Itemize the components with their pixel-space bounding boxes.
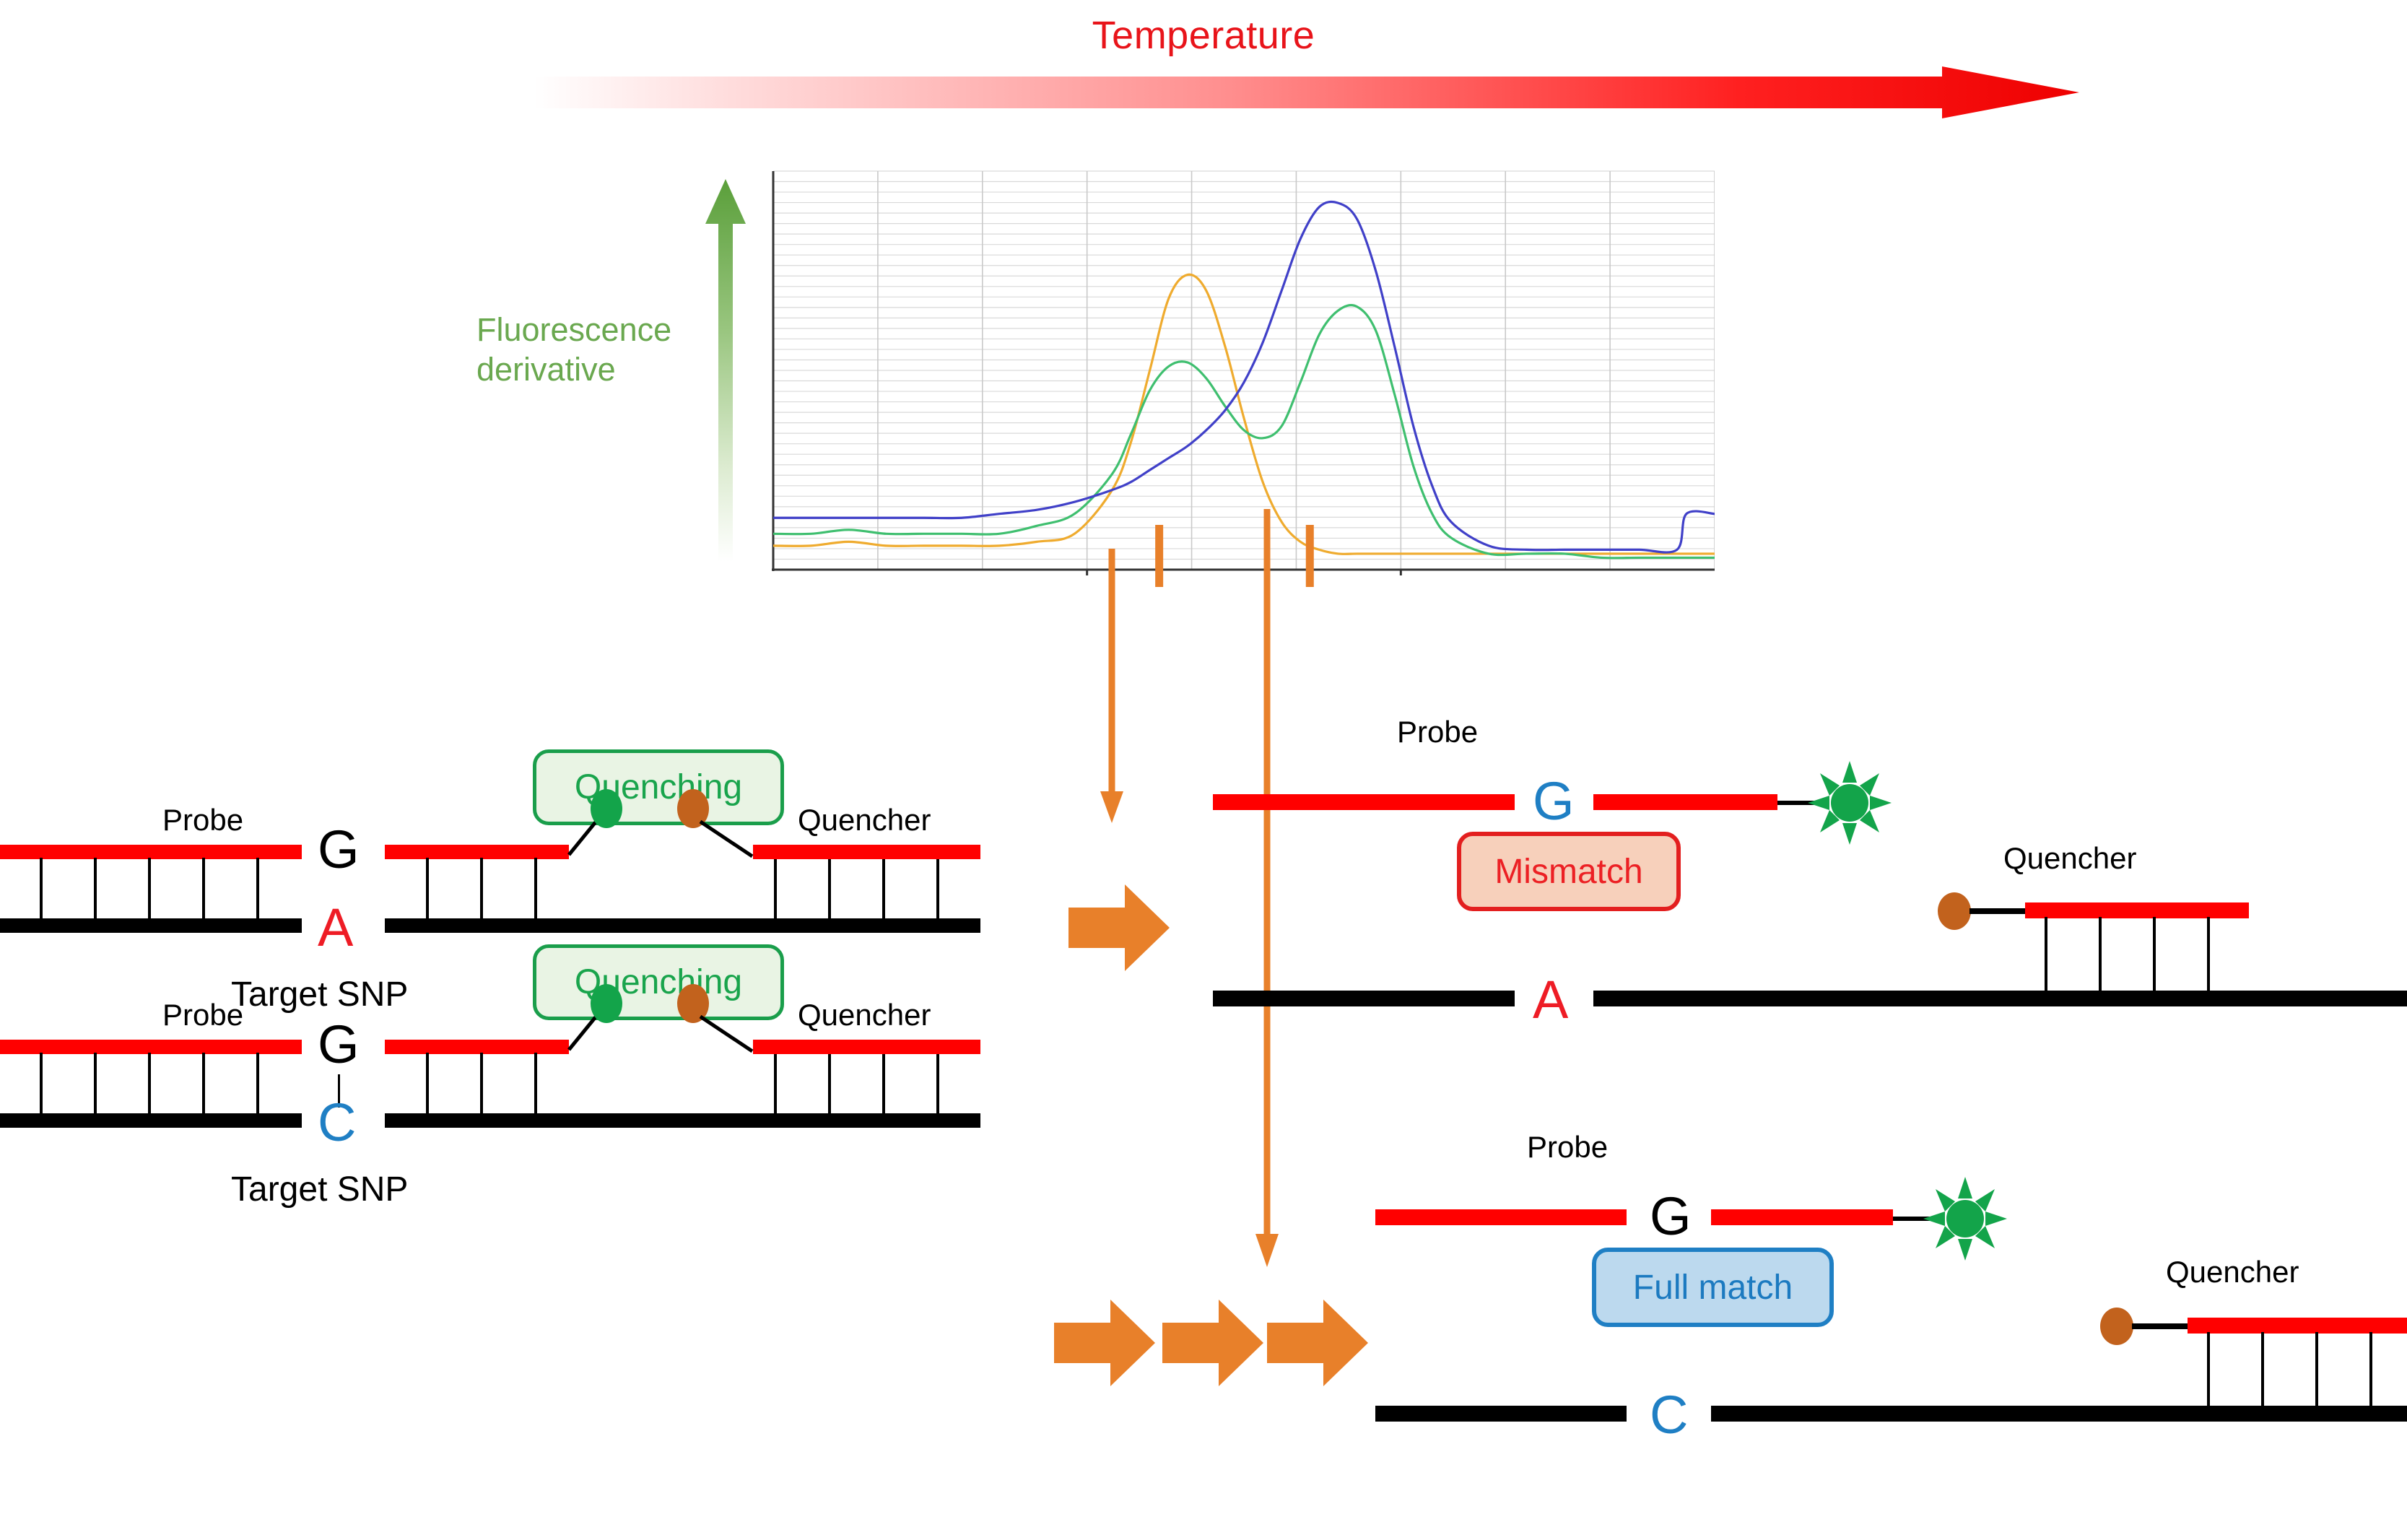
target-strand-segment-left — [1375, 1406, 1627, 1422]
quencher-dot — [1935, 888, 2029, 931]
probe-strand-quencher-segment — [2025, 902, 2249, 918]
probe-strand-segment-left — [1375, 1209, 1627, 1225]
process-arrow — [1054, 1300, 1155, 1390]
target-snp-label: Target SNP — [231, 1170, 408, 1209]
mismatch-badge: Mismatch — [1457, 832, 1681, 911]
fullmatch-badge: Full match — [1592, 1248, 1834, 1327]
base-pair-bond — [2369, 1332, 2372, 1407]
base-pair-bond — [2315, 1332, 2318, 1407]
fluorophore-starburst — [1893, 1174, 2023, 1263]
chart-series-orange-curve — [773, 274, 1715, 554]
quencher-dot — [670, 787, 764, 866]
base-pair-bond — [480, 1053, 483, 1115]
probe-strand-quencher-segment — [2188, 1318, 2407, 1334]
base-pair-bond — [202, 1053, 205, 1115]
probe-strand-segment-left — [0, 1040, 302, 1054]
target-base-letter: C — [318, 1096, 356, 1149]
target-strand-segment-right — [1593, 991, 2407, 1006]
quencher-label: Quencher — [2003, 841, 2136, 876]
base-pair-bond — [828, 1053, 831, 1115]
probe-strand-segment-left — [0, 845, 302, 859]
base-pair-bond — [256, 858, 259, 920]
probe-strand-segment-right — [1711, 1209, 1893, 1225]
target-strand-segment-left — [1213, 991, 1515, 1006]
probe-base-letter: G — [1533, 775, 1575, 828]
y-axis-label-line1: Fluorescence — [476, 310, 715, 350]
target-strand-segment-right — [1711, 1406, 2407, 1422]
chart-series-green-curve — [773, 305, 1715, 558]
temperature-gradient-arrow — [534, 66, 2079, 118]
base-pair-bond — [936, 858, 939, 920]
quencher-label: Quencher — [798, 803, 931, 838]
y-axis-label: Fluorescence derivative — [476, 310, 715, 390]
probe-label: Probe — [1397, 715, 1478, 749]
probe-strand-segment-mid — [385, 845, 569, 859]
probe-strand-segment-mid — [385, 1040, 569, 1054]
base-pair-bond — [2099, 917, 2102, 992]
fluorophore-starburst — [1777, 758, 1907, 848]
base-pair-bond — [426, 1053, 429, 1115]
melt-curve-plot — [762, 168, 1715, 587]
fluorescence-up-arrow — [704, 179, 747, 565]
probe-base-letter: G — [318, 823, 360, 876]
base-pair-bond — [2153, 917, 2156, 992]
base-pair-bond — [936, 1053, 939, 1115]
base-pair-bond — [256, 1053, 259, 1115]
base-pair-bond — [774, 858, 777, 920]
process-arrow — [1162, 1300, 1263, 1390]
base-pair-bond — [534, 1053, 537, 1115]
base-pair-bond — [828, 858, 831, 920]
y-axis-label-line2: derivative — [476, 350, 715, 390]
target-strand-segment-right — [385, 1113, 980, 1128]
mismatch-right-panel: Probe Quencher G Mismatch A — [1213, 722, 2407, 1011]
base-pair-bond — [148, 1053, 151, 1115]
fluorophore-dot — [556, 787, 643, 866]
base-pair-bond — [882, 858, 885, 920]
base-pair-bond — [40, 858, 43, 920]
probe-label: Probe — [162, 998, 243, 1032]
base-pair-bond — [882, 1053, 885, 1115]
process-arrow — [1068, 884, 1170, 975]
probe-base-letter: G — [318, 1018, 360, 1071]
melt-curve-chart — [762, 168, 1715, 587]
probe-base-letter: G — [1650, 1190, 1692, 1243]
base-pair-bond — [2045, 917, 2047, 992]
probe-strand-segment-right — [753, 1040, 980, 1054]
base-pair-bond — [94, 858, 97, 920]
chart-series-blue-curve — [773, 202, 1715, 553]
base-pair-bond — [2207, 917, 2210, 992]
quencher-dot — [2097, 1303, 2191, 1347]
probe-strand-segment-left — [1213, 794, 1515, 810]
target-base-letter: C — [1650, 1388, 1688, 1442]
mismatch-peak-connector — [1097, 549, 1126, 827]
base-pair-bond — [94, 1053, 97, 1115]
base-pair-bond — [202, 858, 205, 920]
target-base-letter: A — [1533, 973, 1568, 1027]
base-pair-bond — [774, 1053, 777, 1115]
quencher-label: Quencher — [2166, 1255, 2299, 1289]
base-pair-bond — [534, 858, 537, 920]
base-pair-bond — [426, 858, 429, 920]
target-base-letter: A — [318, 901, 353, 954]
probe-strand-segment-right — [753, 845, 980, 859]
page-title-temperature: Temperature — [0, 13, 2407, 58]
base-pair-bond — [480, 858, 483, 920]
base-pair-bond — [40, 1053, 43, 1115]
probe-label: Probe — [1527, 1130, 1608, 1165]
fullmatch-right-panel: Probe Quencher G Full match C — [1318, 1141, 2407, 1430]
chart-gridlines — [773, 171, 1715, 570]
target-strand-segment-left — [0, 1113, 302, 1128]
base-pair-bond — [148, 858, 151, 920]
probe-label: Probe — [162, 803, 243, 838]
quencher-dot — [670, 982, 764, 1061]
probe-strand-segment-right — [1593, 794, 1777, 810]
target-strand-segment-right — [385, 918, 980, 933]
base-pair-bond — [2207, 1332, 2210, 1407]
base-pair-bond — [2261, 1332, 2264, 1407]
target-strand-segment-left — [0, 918, 302, 933]
fluorophore-dot — [556, 982, 643, 1061]
quencher-label: Quencher — [798, 998, 931, 1032]
fullmatch-left-panel: Quenching Probe Quencher G C Target SNP — [0, 953, 1011, 1256]
